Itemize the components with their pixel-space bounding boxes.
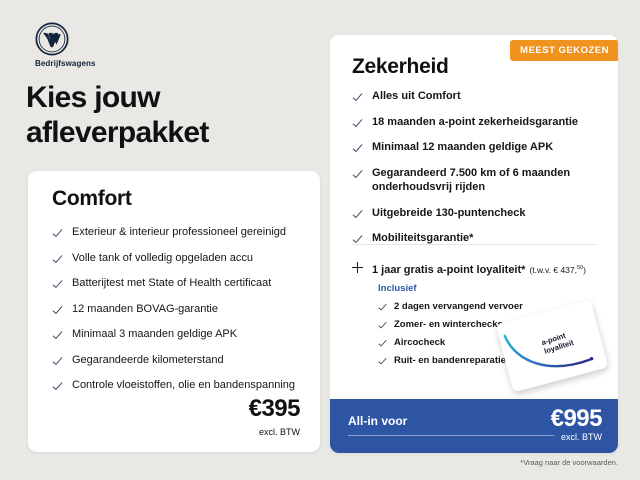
brand-lockup: Bedrijfswagens (35, 22, 155, 68)
feature-text: Controle vloeistoffen, olie en bandenspa… (72, 378, 295, 393)
list-item: Minimaal 3 maanden geldige APK (52, 327, 302, 342)
list-item: Gegarandeerde kilometerstand (52, 353, 302, 368)
list-item: Gegarandeerd 7.500 km of 6 maanden onder… (352, 166, 602, 195)
check-icon (352, 209, 363, 220)
package-title-comfort: Comfort (52, 187, 132, 211)
status-badge: MEEST GEKOZEN (510, 40, 618, 61)
check-icon (378, 303, 387, 312)
package-price-comfort: €395 (249, 395, 300, 423)
headline-line-2: afleverpakket (26, 115, 316, 150)
check-icon (352, 92, 363, 103)
divider (352, 244, 596, 245)
package-card-comfort[interactable]: Comfort Exterieur & interieur profession… (28, 171, 320, 452)
feature-text: Batterijtest met State of Health certifi… (72, 276, 271, 291)
feature-text: Gegarandeerde kilometerstand (72, 353, 224, 368)
included-text: 2 dagen vervangend vervoer (394, 301, 523, 312)
list-item: Alles uit Comfort (352, 89, 602, 104)
feature-text: Volle tank of volledig opgeladen accu (72, 251, 253, 266)
feature-text: Exterieur & interieur professioneel gere… (72, 225, 286, 240)
bonus-value: (t.w.v. € 437,50) (529, 265, 586, 275)
package-title-zekerheid: Zekerheid (352, 55, 449, 79)
feature-text: Uitgebreide 130-puntencheck (372, 206, 525, 221)
check-icon (52, 228, 63, 239)
feature-text: Alles uit Comfort (372, 89, 461, 104)
list-item: Volle tank of volledig opgeladen accu (52, 251, 302, 266)
feature-text: 18 maanden a-point zekerheidsgarantie (372, 115, 578, 130)
bonus-label: 1 jaar gratis a-point loyaliteit* (372, 264, 525, 276)
feature-list-zekerheid: Alles uit Comfort 18 maanden a-point zek… (352, 89, 602, 257)
feature-text: Minimaal 12 maanden geldige APK (372, 140, 553, 155)
headline-line-1: Kies jouw (26, 80, 316, 115)
check-icon (378, 321, 387, 330)
list-item: Minimaal 12 maanden geldige APK (352, 140, 602, 155)
list-item: Exterieur & interieur professioneel gere… (52, 225, 302, 240)
price-label: All-in voor (348, 414, 407, 428)
included-heading: Inclusief (378, 283, 578, 294)
check-icon (52, 381, 63, 392)
feature-text: Minimaal 3 maanden geldige APK (72, 327, 237, 342)
check-icon (52, 330, 63, 341)
package-price-note-comfort: excl. BTW (259, 427, 300, 437)
check-icon (52, 254, 63, 265)
list-item: 18 maanden a-point zekerheidsgarantie (352, 115, 602, 130)
feature-text: 12 maanden BOVAG-garantie (72, 302, 218, 317)
check-icon (52, 356, 63, 367)
page-title: Kies jouw afleverpakket (26, 80, 316, 150)
check-icon (52, 305, 63, 316)
package-price-zekerheid: €995 (551, 405, 602, 433)
list-item: Batterijtest met State of Health certifi… (52, 276, 302, 291)
price-bar-zekerheid: All-in voor €995 excl. BTW (330, 399, 618, 453)
promo-page: Bedrijfswagens Kies jouw afleverpakket C… (0, 0, 640, 480)
volkswagen-logo-icon (35, 22, 69, 56)
brand-name: Bedrijfswagens (35, 59, 155, 68)
footnote: *Vraag naar de voorwaarden. (520, 458, 618, 467)
check-icon (352, 118, 363, 129)
check-icon (378, 339, 387, 348)
package-card-zekerheid[interactable]: MEEST GEKOZEN Zekerheid Alles uit Comfor… (330, 35, 618, 453)
list-item: Controle vloeistoffen, olie en bandenspa… (52, 378, 302, 393)
check-icon (378, 357, 387, 366)
bonus-row: 1 jaar gratis a-point loyaliteit*(t.w.v.… (352, 260, 607, 278)
included-text: Zomer- en winterchecks (394, 319, 503, 330)
included-text: Aircocheck (394, 337, 445, 348)
check-icon (352, 169, 363, 180)
check-icon (352, 143, 363, 154)
feature-list-comfort: Exterieur & interieur professioneel gere… (52, 225, 302, 404)
check-icon (52, 279, 63, 290)
feature-text: Gegarandeerd 7.500 km of 6 maanden onder… (372, 166, 602, 195)
included-text: Ruit- en bandenreparatie (394, 355, 506, 366)
plus-icon (352, 262, 363, 273)
list-item: 12 maanden BOVAG-garantie (52, 302, 302, 317)
package-price-note-zekerheid: excl. BTW (561, 432, 602, 442)
price-rule (348, 435, 554, 436)
list-item: Uitgebreide 130-puntencheck (352, 206, 602, 221)
